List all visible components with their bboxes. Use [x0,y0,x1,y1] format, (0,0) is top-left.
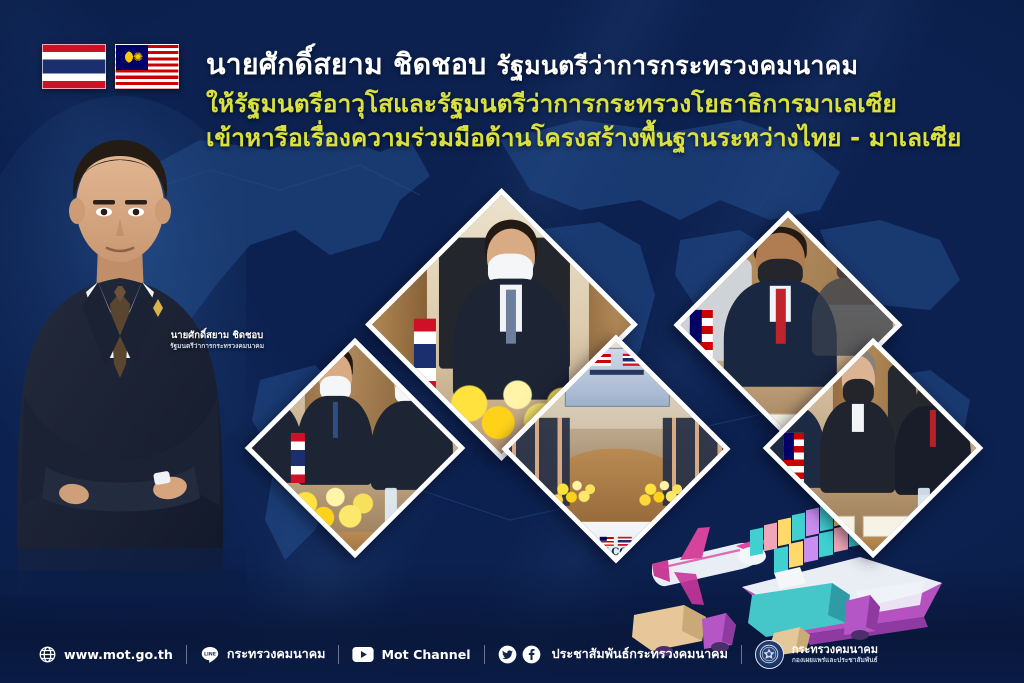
line-icon: LINE [200,645,220,664]
footer-social[interactable]: ประชาสัมพันธ์กระทรวงคมนาคม [498,644,728,664]
twitter-icon [498,645,517,664]
footer-line[interactable]: LINE กระทรวงคมนาคม [200,644,326,664]
ministry-seal-icon [755,640,784,669]
minister-name: นายศักดิ์สยาม ชิดชอบ [206,48,486,81]
flag-pair: ✺ [42,44,179,89]
footer-youtube-label: Mot Channel [381,647,470,662]
footer-social-label: ประชาสัมพันธ์กระทรวงคมนาคม [552,644,728,664]
headline-block: นายศักดิ์สยาม ชิดชอบ รัฐมนตรีว่าการกระทร… [206,46,996,154]
footer-divider [484,645,485,664]
ministry-seal-line1: กระทรวงคมนาคม [792,644,878,657]
facebook-icon [522,645,541,664]
footer-line-label: กระทรวงคมนาคม [227,644,326,664]
ministry-seal-line2: กองเผยแพร่และประชาสัมพันธ์ [792,657,878,665]
crescent-moon-icon [121,51,133,63]
footer-divider [186,645,187,664]
footer-ministry-seal: กระทรวงคมนาคม กองเผยแพร่และประชาสัมพันธ์ [755,640,878,669]
headline-sub-line2: เข้าหารือเรื่องความร่วมมือด้านโครงสร้างพ… [206,121,996,154]
footer-divider [741,645,742,664]
youtube-icon [352,646,374,663]
photo-collage: WELCOME [255,218,1015,548]
thailand-flag-icon [42,44,106,89]
footer-divider [338,645,339,664]
portrait-caption-title: รัฐมนตรีว่าการกระทรวงคมนาคม [152,342,282,351]
portrait-caption-name: นายศักดิ์สยาม ชิดชอบ [152,330,282,342]
footer-website-label: www.mot.go.th [64,647,173,662]
headline-sub-line1: ให้รัฐมนตรีอาวุโสและรัฐมนตรีว่าการกระทรว… [206,87,996,120]
footer-youtube[interactable]: Mot Channel [352,646,470,663]
ministry-seal-text: กระทรวงคมนาคม กองเผยแพร่และประชาสัมพันธ์ [792,644,878,664]
footer-website[interactable]: www.mot.go.th [38,645,173,664]
globe-icon [38,645,57,664]
svg-text:LINE: LINE [204,651,216,657]
star-icon: ✺ [133,52,143,62]
infographic-poster: ✺ นายศักดิ์สยาม ชิดชอบ รัฐมนตรีว่าการกระ… [0,0,1024,683]
minister-role: รัฐมนตรีว่าการกระทรวงคมนาคม [497,51,859,80]
portrait-caption: นายศักดิ์สยาม ชิดชอบ รัฐมนตรีว่าการกระทร… [152,330,282,351]
headline-main: นายศักดิ์สยาม ชิดชอบ รัฐมนตรีว่าการกระทร… [206,46,996,84]
footer-bar: www.mot.go.th LINE กระทรวงคมนาคม Mot Cha… [0,625,1024,683]
malaysia-flag-icon: ✺ [115,44,179,89]
